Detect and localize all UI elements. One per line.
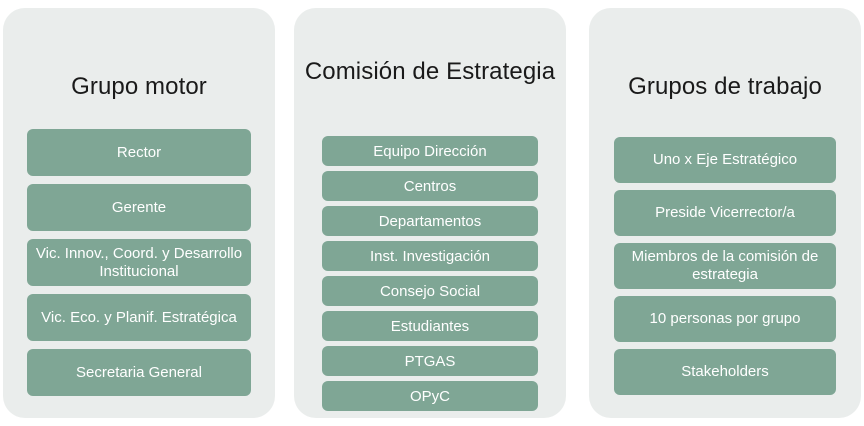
box-item: Stakeholders bbox=[614, 349, 836, 395]
box-item: Preside Vicerrector/a bbox=[614, 190, 836, 236]
box-item: Departamentos bbox=[322, 206, 538, 236]
box-stack-grupo-motor: Rector Gerente Vic. Innov., Coord. y Des… bbox=[3, 129, 275, 396]
box-item: PTGAS bbox=[322, 346, 538, 376]
box-item: Consejo Social bbox=[322, 276, 538, 306]
box-item: Inst. Investigación bbox=[322, 241, 538, 271]
panel-comision-de-estrategia: Comisión de Estrategia Equipo Dirección … bbox=[294, 8, 566, 418]
panel-grupo-motor: Grupo motor Rector Gerente Vic. Innov., … bbox=[3, 8, 275, 418]
box-item: 10 personas por grupo bbox=[614, 296, 836, 342]
panel-title-comision-de-estrategia: Comisión de Estrategia bbox=[294, 57, 566, 87]
panel-title-grupo-motor: Grupo motor bbox=[3, 72, 275, 101]
box-stack-grupos-de-trabajo: Uno x Eje Estratégico Preside Vicerrecto… bbox=[589, 137, 861, 395]
box-item: Vic. Innov., Coord. y Desarrollo Institu… bbox=[27, 239, 251, 286]
panel-title-grupos-de-trabajo: Grupos de trabajo bbox=[589, 72, 861, 101]
box-item: Uno x Eje Estratégico bbox=[614, 137, 836, 183]
panel-grupos-de-trabajo: Grupos de trabajo Uno x Eje Estratégico … bbox=[589, 8, 861, 418]
governance-structure-diagram: Grupo motor Rector Gerente Vic. Innov., … bbox=[0, 0, 864, 426]
box-item: OPyC bbox=[322, 381, 538, 411]
box-item: Miembros de la comisión de estrategia bbox=[614, 243, 836, 289]
box-item: Centros bbox=[322, 171, 538, 201]
box-item: Equipo Dirección bbox=[322, 136, 538, 166]
box-item: Secretaria General bbox=[27, 349, 251, 396]
box-item: Gerente bbox=[27, 184, 251, 231]
box-item: Estudiantes bbox=[322, 311, 538, 341]
box-stack-comision-de-estrategia: Equipo Dirección Centros Departamentos I… bbox=[294, 136, 566, 411]
box-item: Vic. Eco. y Planif. Estratégica bbox=[27, 294, 251, 341]
box-item: Rector bbox=[27, 129, 251, 176]
